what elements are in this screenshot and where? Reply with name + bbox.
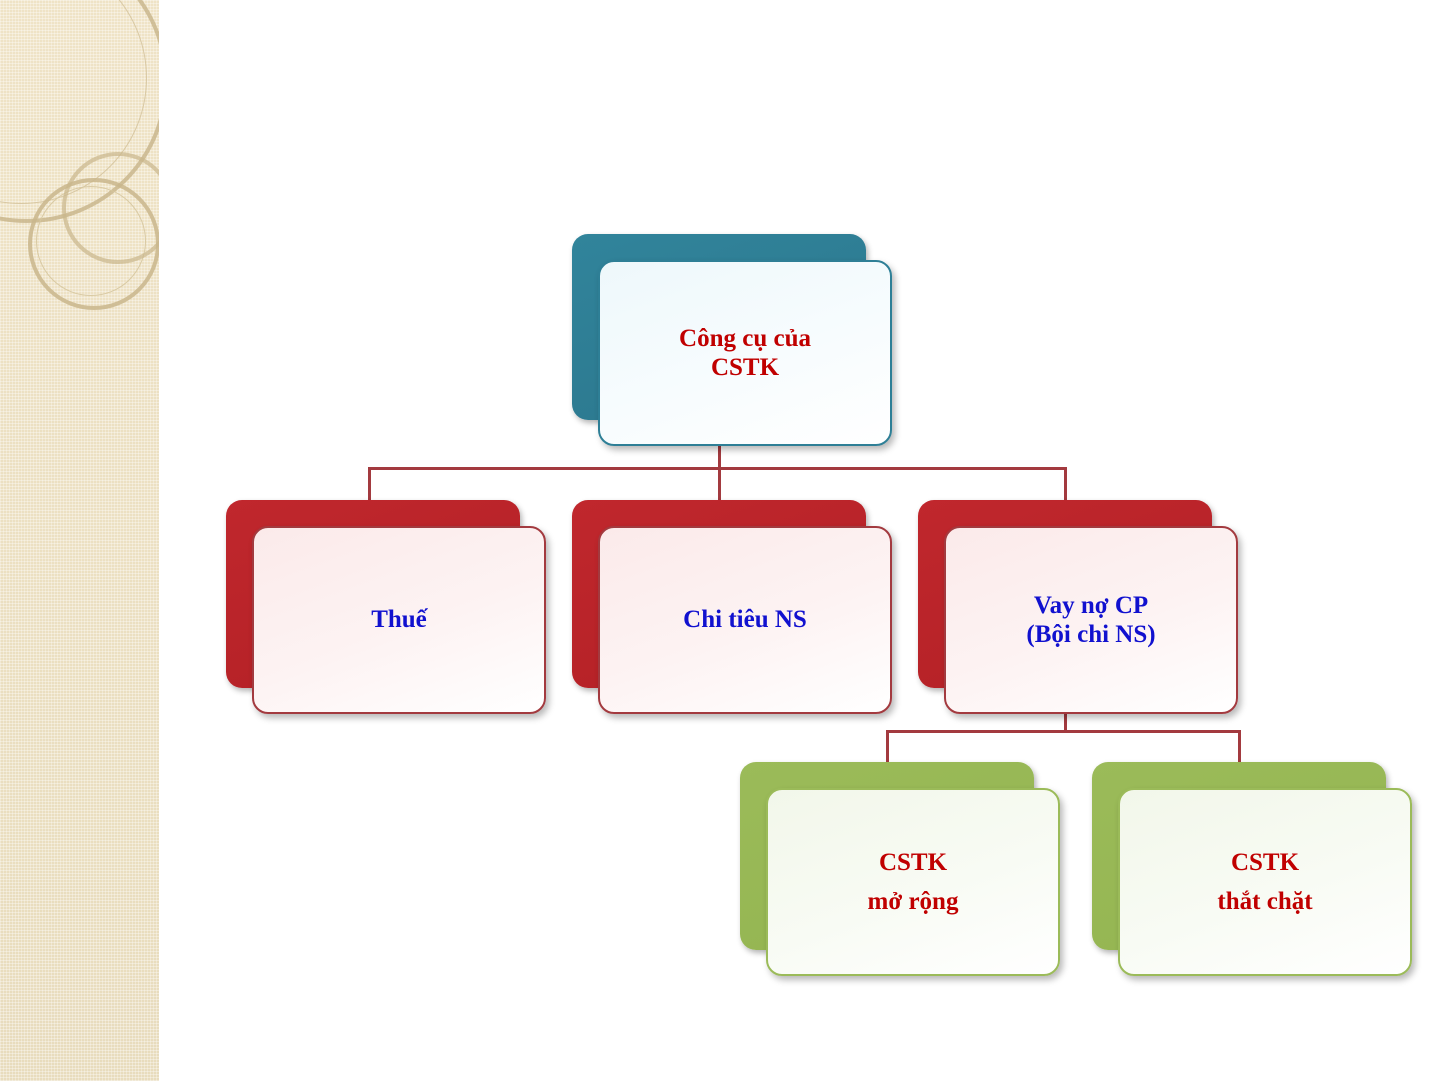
node-label: CSTK thắt chặt <box>1207 848 1322 917</box>
node-face[interactable]: CSTK mở rộng <box>766 788 1060 976</box>
node-cstk-mo-rong[interactable]: CSTK mở rộng <box>740 762 1060 976</box>
node-label: Vay nợ CP (Bội chi NS) <box>1016 591 1165 650</box>
connector-to-chitieu <box>718 467 721 503</box>
node-label-line1: Công cụ của <box>679 325 811 352</box>
node-face[interactable]: Công cụ của CSTK <box>598 260 892 446</box>
node-label-line2: mở rộng <box>868 887 959 917</box>
connector-level3-horizontal <box>886 730 1241 733</box>
node-label: CSTK mở rộng <box>858 848 969 917</box>
node-label-line1: Vay nợ CP <box>1034 592 1148 619</box>
node-chi-tieu-ns[interactable]: Chi tiêu NS <box>572 500 892 714</box>
node-vay-no-cp[interactable]: Vay nợ CP (Bội chi NS) <box>918 500 1238 714</box>
decorative-sidebar <box>0 0 162 1081</box>
node-face[interactable]: Chi tiêu NS <box>598 526 892 714</box>
node-label-line1: CSTK <box>879 849 947 876</box>
node-label: Thuế <box>361 605 437 635</box>
node-thue[interactable]: Thuế <box>226 500 546 714</box>
node-label-line2: CSTK <box>711 354 779 381</box>
diagram-canvas: Công cụ của CSTK Thuế Chi tiêu NS Vay nợ… <box>162 0 1441 1081</box>
node-cong-cu-cua-cstk[interactable]: Công cụ của CSTK <box>572 234 892 446</box>
node-face[interactable]: CSTK thắt chặt <box>1118 788 1412 976</box>
connector-to-thue <box>368 467 371 503</box>
node-face[interactable]: Vay nợ CP (Bội chi NS) <box>944 526 1238 714</box>
node-label-line1: CSTK <box>1231 849 1299 876</box>
node-label: Chi tiêu NS <box>673 605 817 635</box>
connector-to-vayno <box>1064 467 1067 503</box>
node-label: Công cụ của CSTK <box>669 324 821 383</box>
decorative-circle-icon <box>62 152 162 264</box>
connector-to-cstk-morong <box>886 730 889 766</box>
node-cstk-that-chat[interactable]: CSTK thắt chặt <box>1092 762 1412 976</box>
node-label-line2: (Bội chi NS) <box>1026 621 1155 648</box>
node-label-line2: thắt chặt <box>1217 887 1312 917</box>
connector-to-cstk-thatchat <box>1238 730 1241 766</box>
node-face[interactable]: Thuế <box>252 526 546 714</box>
